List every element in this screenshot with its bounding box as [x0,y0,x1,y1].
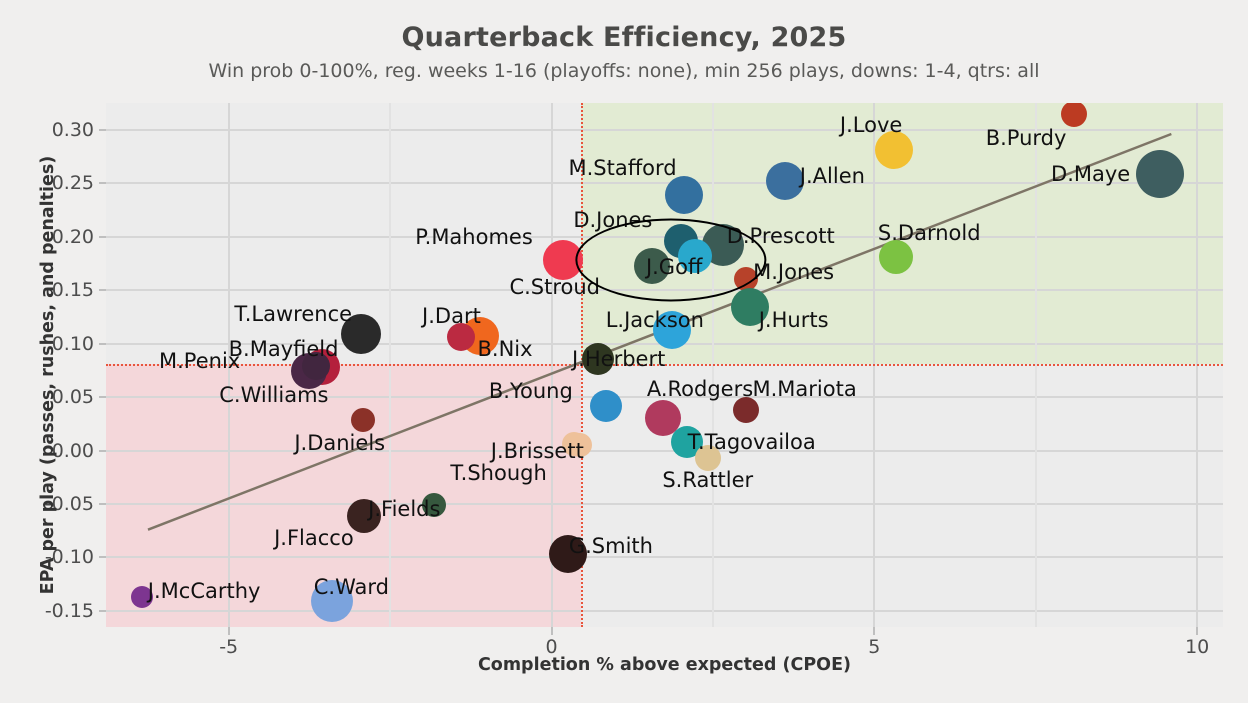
gridline-horizontal [106,610,1223,612]
chart-title: Quarterback Efficiency, 2025 [0,22,1248,53]
y-tick-label: 0.15 [52,279,94,301]
y-tick-mark [99,343,106,345]
y-tick-mark [99,503,106,505]
point-label-j-herbert: J.Herbert [572,347,665,371]
y-tick-mark [99,236,106,238]
data-point-d-maye[interactable] [1136,150,1184,198]
y-tick-label: 0.20 [52,226,94,248]
data-point-j-daniels[interactable] [351,408,375,432]
point-label-g-smith: G.Smith [569,534,653,558]
point-label-a-rodgers: A.Rodgers [647,377,753,401]
point-label-t-shough: T.Shough [450,461,546,485]
point-label-s-darnold: S.Darnold [878,221,981,245]
y-tick-mark [99,556,106,558]
x-tick-mark [873,627,875,635]
highlight-ellipse-j-goff [575,219,766,302]
point-label-b-mayfield: B.Mayfield [229,337,339,361]
point-label-l-jackson: L.Jackson [606,308,704,332]
x-tick-mark [228,627,230,635]
point-label-m-penix: M.Penix [159,349,240,373]
point-label-j-brissett: J.Brissett [491,439,584,463]
point-label-j-dart: J.Dart [422,304,481,328]
point-label-c-ward: C.Ward [314,575,389,599]
y-axis-label: EPA per play (passes, rushes, and penalt… [38,115,58,635]
point-label-b-young: B.Young [489,379,573,403]
data-point-b-young[interactable] [590,390,622,422]
x-tick-mark [1196,627,1198,635]
point-label-j-daniels: J.Daniels [294,431,385,455]
y-tick-mark [99,129,106,131]
y-tick-mark [99,289,106,291]
point-label-s-rattler: S.Rattler [662,468,753,492]
y-tick-label: 0.10 [52,333,94,355]
point-label-c-williams: C.Williams [219,383,328,407]
y-tick-mark [99,182,106,184]
point-label-j-fields: J.Fields [368,497,440,521]
y-tick-mark [99,610,106,612]
point-label-b-nix: B.Nix [477,337,532,361]
point-label-j-allen: J.Allen [800,164,865,188]
y-tick-label: 0.30 [52,119,94,141]
point-label-j-love: J.Love [840,113,902,137]
point-label-j-flacco: J.Flacco [274,526,354,550]
x-axis-label: Completion % above expected (CPOE) [106,655,1223,675]
point-label-j-mccarthy: J.McCarthy [148,579,261,603]
point-label-j-hurts: J.Hurts [759,308,829,332]
y-tick-label: 0.25 [52,172,94,194]
data-point-m-mariota[interactable] [733,397,759,423]
point-label-t-tagovailoa: T.Tagovailoa [688,430,816,454]
data-point-m-stafford[interactable] [665,176,703,214]
chart-subtitle: Win prob 0-100%, reg. weeks 1-16 (playof… [0,60,1248,82]
scatter-plot-area: B.PurdyJ.LoveD.MayeJ.AllenM.StaffordD.Jo… [106,103,1223,627]
x-tick-mark [551,627,553,635]
y-tick-mark [99,450,106,452]
point-label-t-lawrence: T.Lawrence [234,302,352,326]
gridline-horizontal [106,503,1223,505]
y-tick-label: 0.00 [52,440,94,462]
y-tick-mark [99,396,106,398]
point-label-m-mariota: M.Mariota [752,377,856,401]
y-tick-label: 0.05 [52,386,94,408]
point-label-d-maye: D.Maye [1051,162,1130,186]
data-point-j-allen[interactable] [766,162,804,200]
point-label-p-mahomes: P.Mahomes [415,225,533,249]
gridline-horizontal [106,556,1223,558]
point-label-b-purdy: B.Purdy [986,126,1067,150]
gridline-horizontal [106,450,1223,452]
point-label-m-stafford: M.Stafford [568,156,676,180]
